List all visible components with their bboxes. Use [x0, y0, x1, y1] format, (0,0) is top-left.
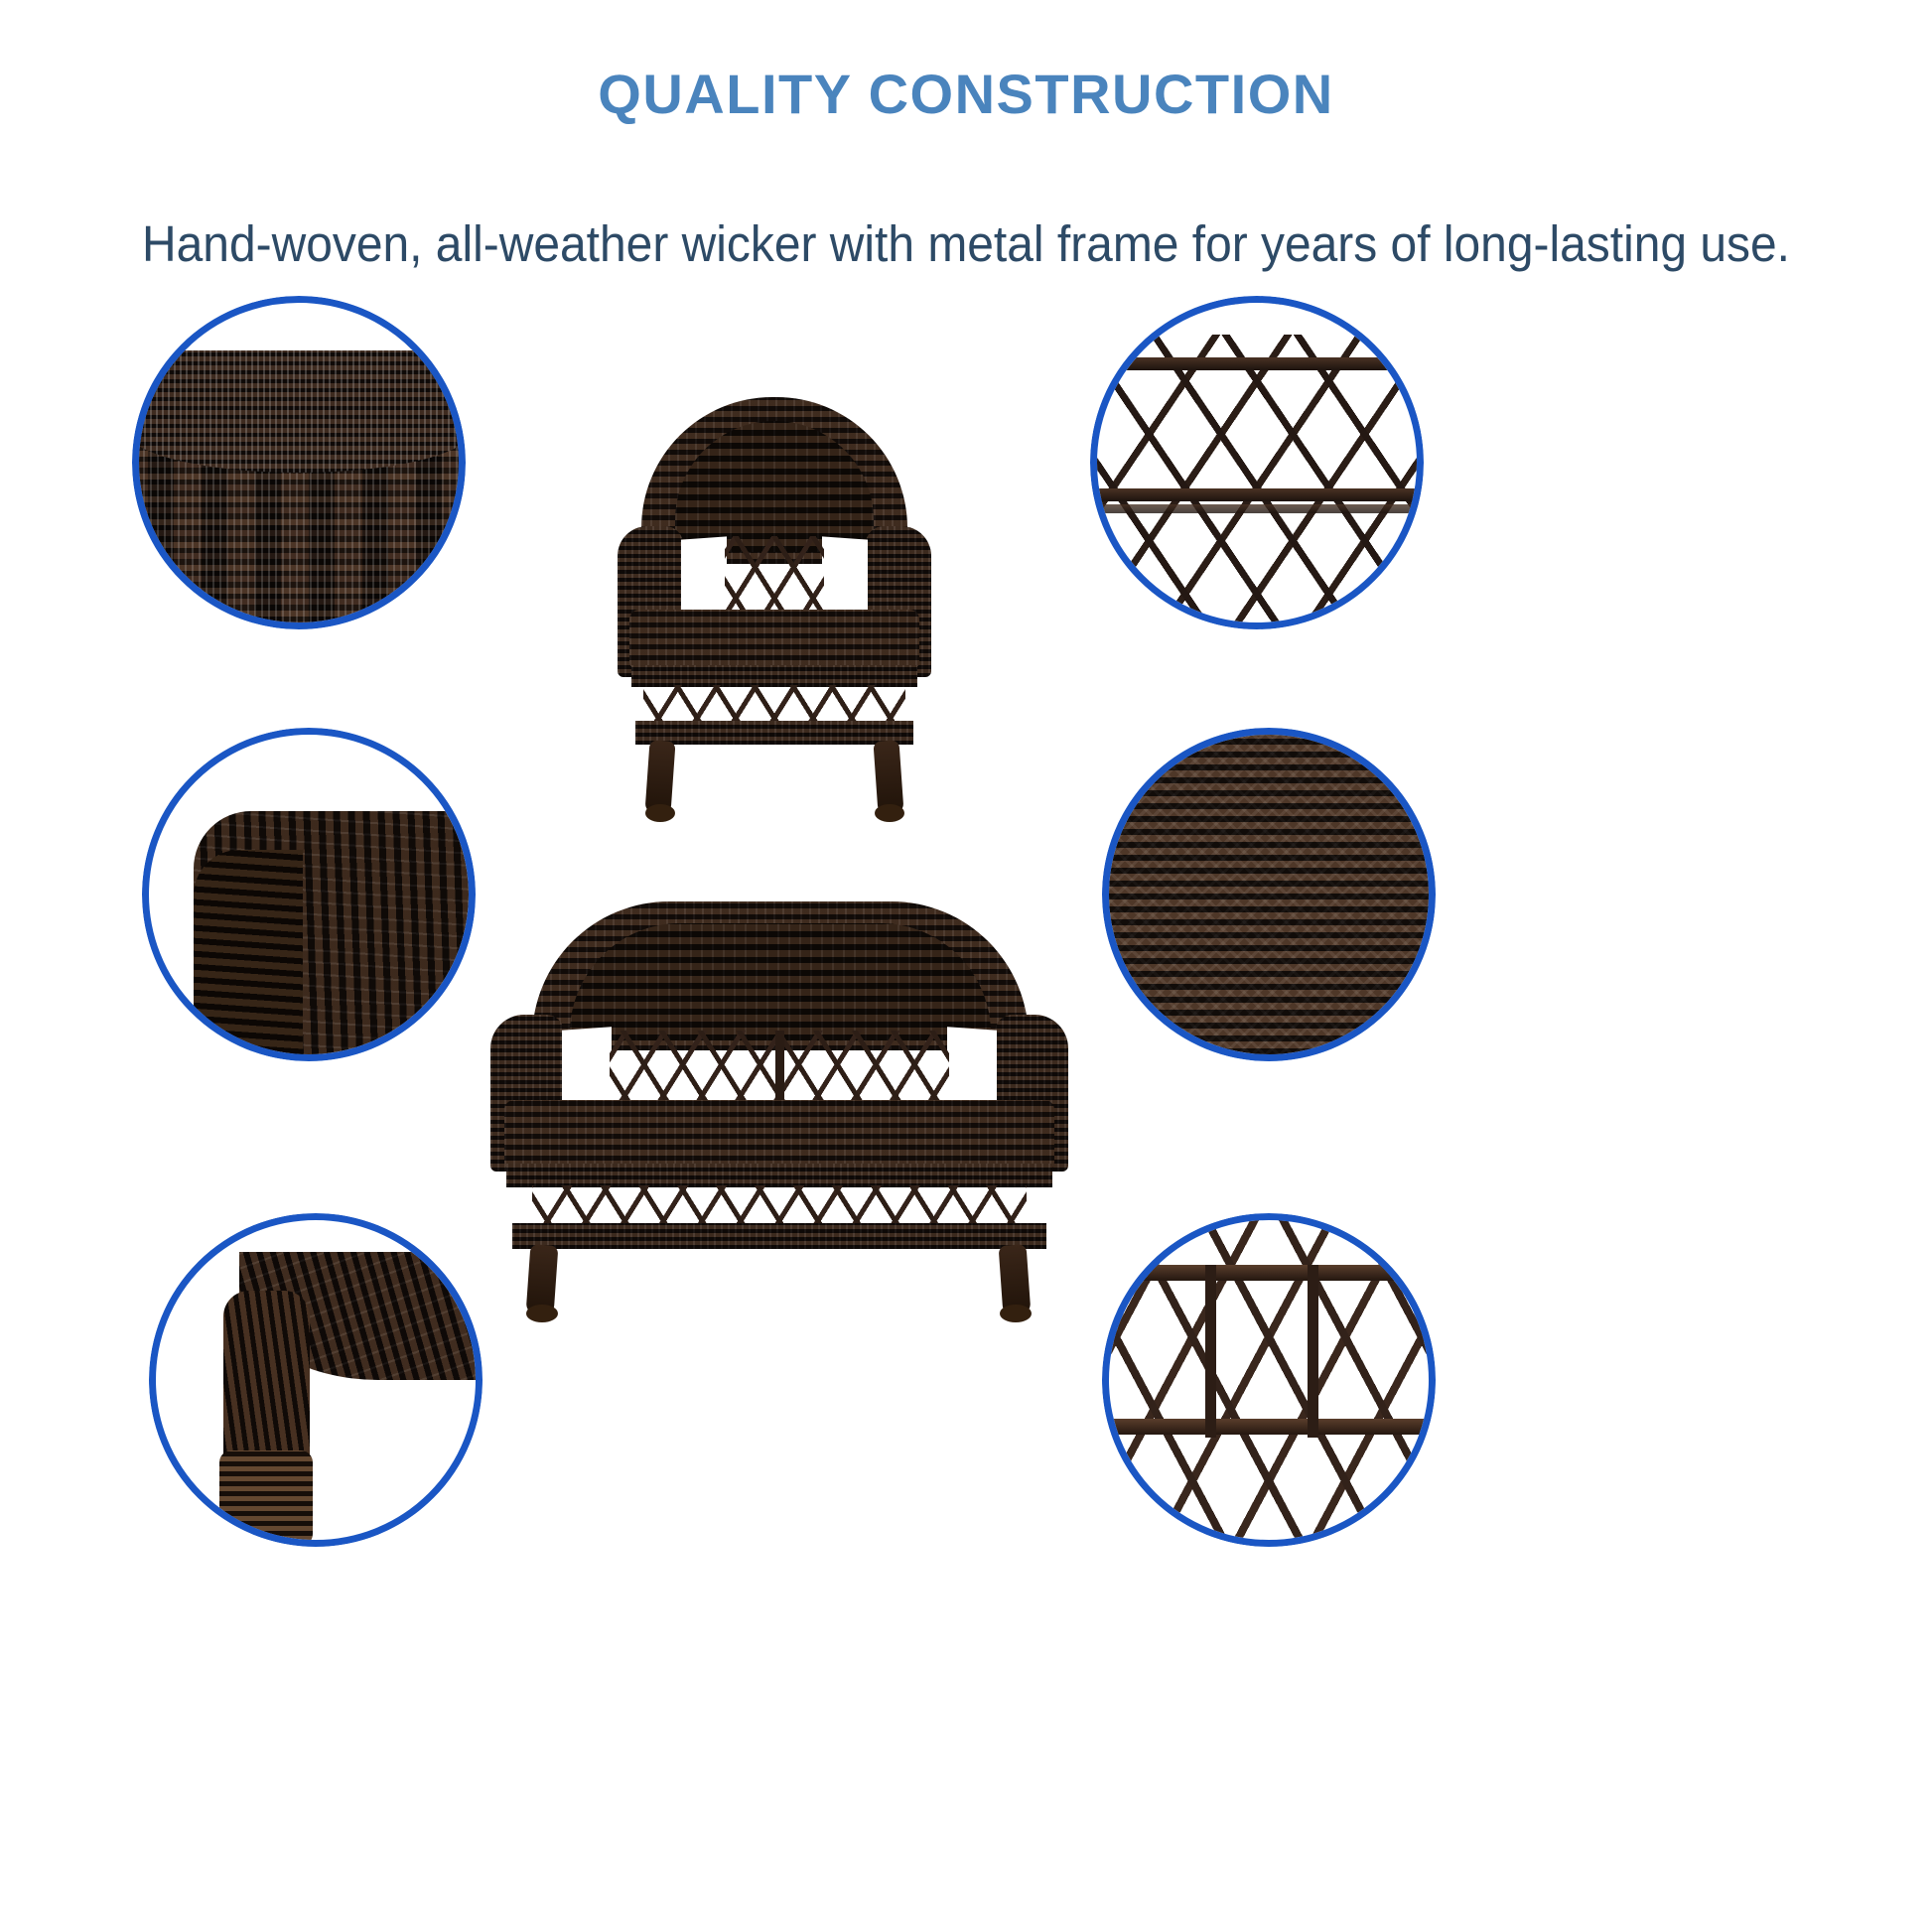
loveseat-arm-gap-left [562, 1027, 612, 1111]
callout-top-left-image [139, 303, 459, 622]
loveseat-bottom-rail [512, 1223, 1046, 1249]
loveseat-back-lattice-divider [775, 1031, 784, 1102]
wicker-seat-weave-detail [1109, 735, 1429, 1054]
callout-top-right-image [1097, 303, 1417, 622]
chair-front-apron [631, 665, 917, 687]
patio-loveseat-image [475, 894, 1084, 1320]
chair-foot-left [645, 804, 675, 822]
callout-middle-right-image [1109, 735, 1429, 1054]
chair-arm-gap-right [822, 536, 868, 617]
callout-middle-right [1102, 728, 1436, 1061]
callout-top-left [132, 296, 466, 629]
chair-arm-gap-left [681, 536, 727, 617]
patio-chair-image [596, 387, 953, 824]
chair-back-lattice [725, 536, 824, 612]
loveseat-back-inner-panel [570, 923, 991, 1040]
callout-top-left-mask [139, 303, 459, 350]
loveseat-foot-left [526, 1305, 558, 1322]
wicker-leg-wrapped-band [219, 1450, 312, 1540]
wicker-skirt-lattice-detail [1109, 1220, 1429, 1540]
callout-top-right-mask [1097, 303, 1417, 335]
callout-top-right [1090, 296, 1424, 629]
loveseat-foot-right [1000, 1305, 1032, 1322]
loveseat-front-apron [506, 1164, 1052, 1187]
callout-bottom-left [149, 1213, 483, 1547]
wicker-basketweave-top-band [139, 345, 459, 473]
page-title: QUALITY CONSTRUCTION [0, 62, 1932, 126]
skirt-post-left [1205, 1265, 1216, 1438]
callout-middle-left [142, 728, 476, 1061]
callout-middle-left-image [149, 735, 469, 1054]
infographic-canvas: QUALITY CONSTRUCTION Hand-woven, all-wea… [0, 0, 1932, 1932]
skirt-rail-top [1109, 1265, 1429, 1281]
callout-bottom-right [1102, 1213, 1436, 1547]
wicker-lattice-detail [1097, 303, 1417, 622]
wicker-arm-front-face [194, 850, 302, 1054]
lattice-rail-bottom-2 [1097, 504, 1417, 513]
loveseat-seat [504, 1100, 1054, 1172]
lattice-rail-top [1097, 357, 1417, 370]
chair-bottom-rail [635, 721, 913, 745]
callout-bottom-left-image [156, 1220, 476, 1540]
callout-bottom-right-image [1109, 1220, 1429, 1540]
chair-foot-right [875, 804, 904, 822]
skirt-post-right [1308, 1265, 1318, 1438]
page-subtitle: Hand-woven, all-weather wicker with meta… [58, 214, 1873, 273]
loveseat-skirt-lattice [532, 1185, 1027, 1227]
chair-skirt-lattice [643, 685, 905, 725]
lattice-rail-bottom [1097, 488, 1417, 501]
loveseat-arm-gap-right [947, 1027, 997, 1111]
chair-seat [629, 610, 919, 671]
skirt-rail-bottom [1109, 1419, 1429, 1435]
